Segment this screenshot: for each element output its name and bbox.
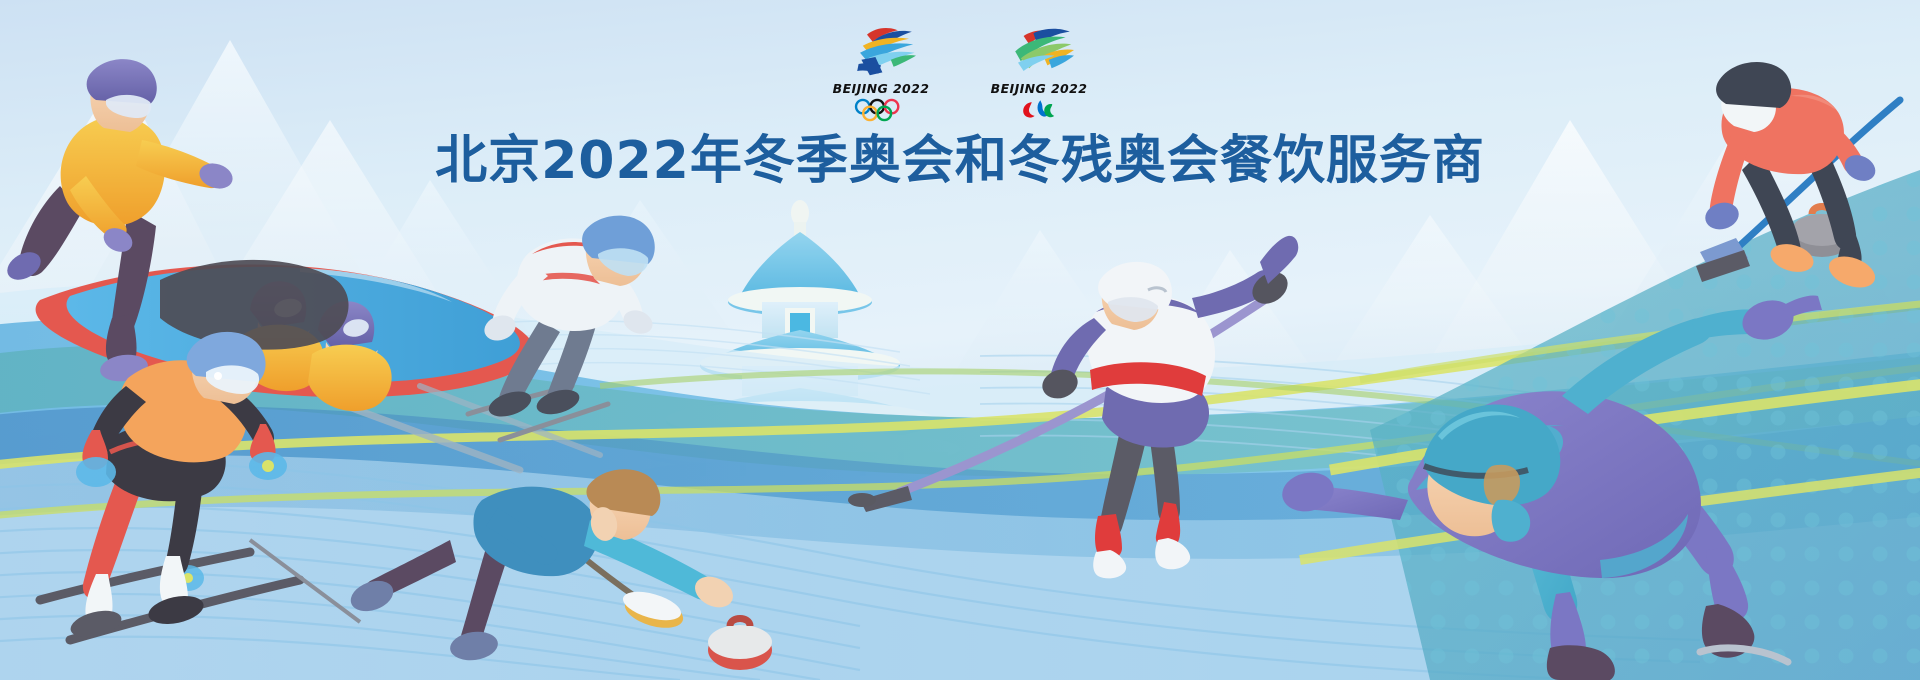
athlete-speed-skater-mid	[468, 216, 656, 440]
emblem-group: BEIJING 2022 B	[0, 22, 1920, 122]
flying-fei-ribbon-icon	[996, 22, 1082, 78]
hockey-puck	[848, 493, 876, 507]
page-title: 北京2022年冬季奥会和冬残奥会餐饮服务商	[0, 118, 1920, 193]
olympic-emblem: BEIJING 2022	[825, 22, 937, 122]
beijing-2022-banner: BEIJING 2022 B	[0, 0, 1920, 680]
athlete-speed-skater-main	[1279, 295, 1822, 680]
athlete-curler-delivery	[347, 469, 772, 670]
olympic-wordmark: BEIJING 2022	[833, 81, 930, 96]
athlete-ice-hockey-player	[848, 236, 1298, 579]
paralympic-emblem: BEIJING 2022	[983, 22, 1095, 121]
paralympic-wordmark: BEIJING 2022	[991, 81, 1088, 96]
winter-dong-ribbon-icon	[838, 22, 924, 78]
